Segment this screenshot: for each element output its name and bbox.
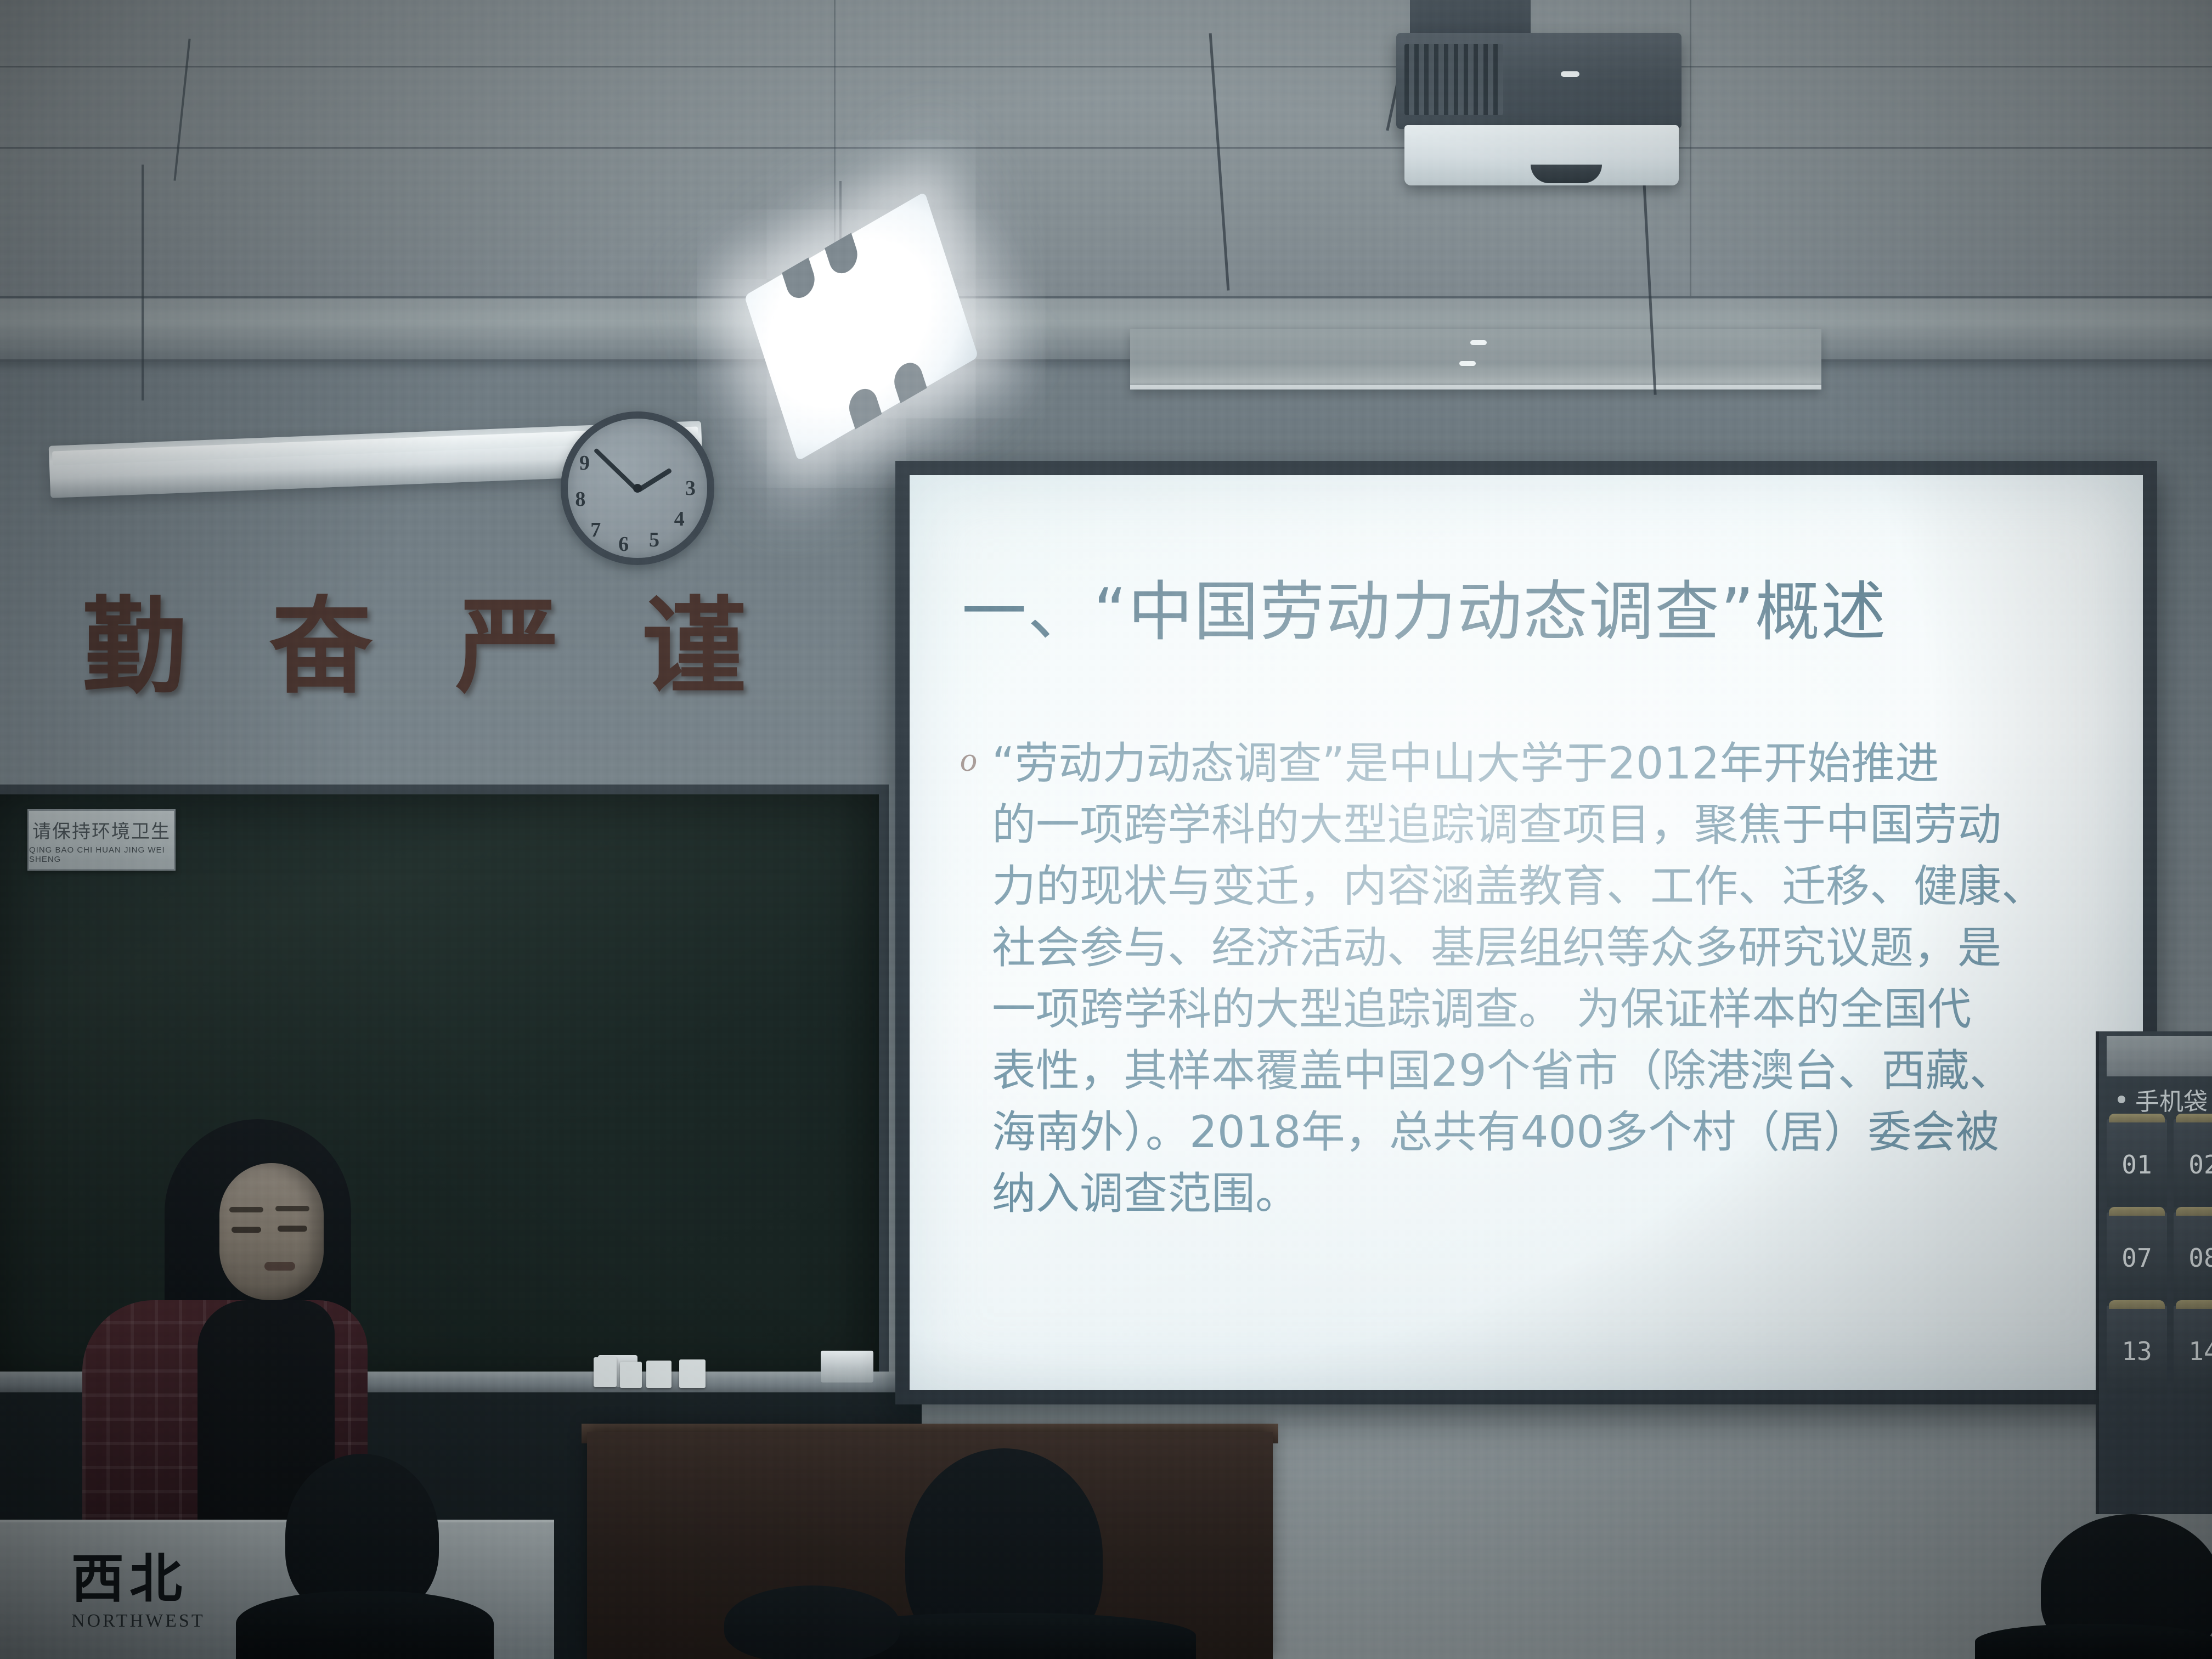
student-shoulders <box>1975 1624 2212 1659</box>
clock-center-cap <box>633 484 642 493</box>
pocket-cell[interactable]: 02 <box>2174 1119 2212 1207</box>
ceiling-wire <box>142 165 144 400</box>
ceiling-seam-vertical <box>1690 0 1691 307</box>
pocket-board-title-row: 手机袋 <box>2118 1082 2208 1117</box>
projection-screen-surface: 一、“中国劳动力动态调查”概述 o “劳动力动态调查”是中山大学于2012年开始… <box>910 475 2143 1390</box>
presenter-eye <box>278 1226 307 1232</box>
slogan-char: 谨 <box>642 595 746 699</box>
hygiene-notice-sign: 请保持环境卫生 QING BAO CHI HUAN JING WEI SHENG <box>27 809 176 871</box>
pocket-cell-number: 02 <box>2188 1150 2212 1180</box>
chalk-piece[interactable] <box>594 1357 617 1387</box>
wall-slogan: 勤 奋 严 谨 <box>82 595 746 699</box>
track-highlight <box>1470 340 1487 345</box>
pocket-board-grid: 01 02 07 08 13 14 <box>2107 1119 2212 1393</box>
slogan-char: 奋 <box>269 595 373 699</box>
slide-body-line: 海南外）。2018年，总共有400多个村（居）委会被 <box>992 1102 2056 1163</box>
slide-body-line: 社会参与、经济活动、基层组织等众多研究议题，是 <box>992 917 2056 979</box>
clock-numeral: 3 <box>685 476 696 500</box>
phone-pocket-board: 手机袋 01 02 07 08 13 14 <box>2096 1031 2212 1514</box>
pocket-cell-number: 07 <box>2121 1243 2152 1273</box>
slide-body-line: 表性，其样本覆盖中国29个省市（除港澳台、西藏、 <box>992 1040 2056 1102</box>
pocket-cell[interactable]: 07 <box>2107 1212 2167 1300</box>
slide-body-line: 力的现状与变迁，内容涵盖教育、工作、迁移、健康、 <box>992 856 2056 917</box>
wall-beam <box>0 296 2212 362</box>
clock-numeral: 6 <box>618 532 629 556</box>
pocket-cell[interactable]: 13 <box>2107 1306 2167 1393</box>
pocket-board-title: 手机袋 <box>2135 1082 2208 1117</box>
student-shoulders <box>236 1591 494 1659</box>
curtain-track <box>1130 329 1821 390</box>
ceiling-seam <box>0 66 2212 67</box>
clock-numeral: 9 <box>579 451 590 475</box>
ceiling-seam <box>0 147 2212 149</box>
bullet-dot-icon <box>2118 1096 2125 1103</box>
pocket-cell-number: 08 <box>2188 1243 2212 1273</box>
ceiling <box>0 0 2212 307</box>
pocket-cell[interactable]: 14 <box>2174 1306 2212 1393</box>
presenter-eye <box>232 1227 261 1233</box>
clock-numeral: 7 <box>590 518 601 542</box>
slide-body-line: “劳动力动态调查”是中山大学于2012年开始推进 <box>992 733 2056 794</box>
pocket-board-header <box>2107 1036 2212 1076</box>
university-logo-english: NORTHWEST <box>71 1611 205 1632</box>
slide-title: 一、“中国劳动力动态调查”概述 <box>962 574 2086 650</box>
chalk-piece[interactable] <box>679 1359 706 1388</box>
projection-screen-frame: 一、“中国劳动力动态调查”概述 o “劳动力动态调查”是中山大学于2012年开始… <box>895 461 2157 1404</box>
projector-indicator-led <box>1561 71 1579 77</box>
clock-numeral: 5 <box>649 528 659 552</box>
pocket-cell-number: 13 <box>2121 1336 2152 1366</box>
classroom-scene: 3 4 5 6 7 8 9 勤 奋 严 谨 请保持环境卫生 QING BAO C… <box>0 0 2212 1659</box>
pocket-cell-number: 01 <box>2121 1150 2152 1180</box>
chalk-piece[interactable] <box>646 1361 672 1388</box>
presenter-eyebrow <box>229 1207 263 1212</box>
slide-body-line: 的一项跨学科的大型追踪调查项目，聚焦于中国劳动 <box>992 794 2056 856</box>
projector-vents <box>1404 44 1503 115</box>
pocket-cell[interactable]: 01 <box>2107 1119 2167 1207</box>
chalk-piece[interactable] <box>620 1362 642 1388</box>
hygiene-notice-chinese: 请保持环境卫生 <box>32 816 171 843</box>
beam-shadow <box>0 359 2212 374</box>
projector-lens <box>1531 165 1602 183</box>
slide-body-line: 一项跨学科的大型追踪调查。 为保证样本的全国代 <box>992 979 2056 1040</box>
slogan-char: 勤 <box>82 595 187 699</box>
presenter-mouth <box>264 1262 295 1271</box>
slide-body: o “劳动力动态调查”是中山大学于2012年开始推进 的一项跨学科的大型追踪调查… <box>992 733 2056 1224</box>
university-logo: 西北 NORTHWEST <box>71 1553 205 1632</box>
slide-bullet-marker: o <box>960 736 977 784</box>
hygiene-notice-pinyin: QING BAO CHI HUAN JING WEI SHENG <box>29 845 174 864</box>
clock-minute-hand <box>594 448 639 492</box>
presenter-eyebrow <box>275 1206 309 1211</box>
student-head <box>724 1585 900 1659</box>
pocket-cell-number: 14 <box>2188 1336 2212 1366</box>
slide-body-line: 纳入调查范围。 <box>992 1163 2056 1224</box>
wall-clock: 3 4 5 6 7 8 9 <box>561 411 714 565</box>
blackboard-eraser[interactable] <box>821 1351 873 1383</box>
university-logo-chinese: 西北 <box>71 1553 188 1605</box>
track-highlight <box>1459 361 1476 366</box>
slogan-char: 严 <box>455 595 560 699</box>
clock-numeral: 8 <box>575 487 585 511</box>
clock-numeral: 4 <box>674 507 685 531</box>
pocket-cell[interactable]: 08 <box>2174 1212 2212 1300</box>
